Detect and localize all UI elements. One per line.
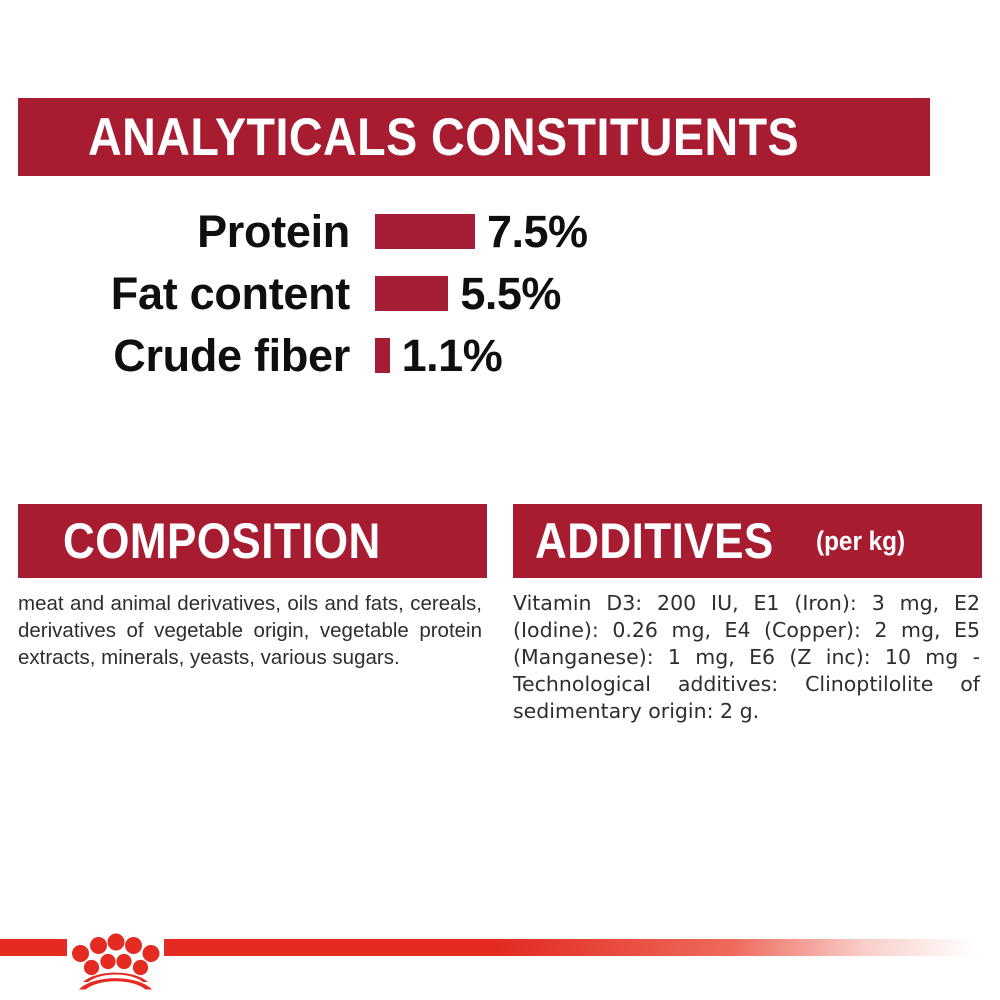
nutrient-bar-crude-fiber	[375, 338, 390, 373]
nutrient-bar-wrap: 5.5%	[375, 271, 561, 316]
nutrient-label-fat-content: Fat content	[0, 271, 350, 316]
nutrient-value-protein: 7.5%	[487, 209, 588, 254]
additives-banner-suffix: (per kg)	[816, 526, 905, 557]
footer-rule-left	[0, 939, 67, 956]
composition-body-text: meat and animal derivatives, oils and fa…	[18, 590, 482, 671]
royal-canin-crown-logo-icon	[67, 920, 164, 992]
nutrient-row: Crude fiber 1.1%	[0, 324, 1000, 386]
nutrient-value-fat-content: 5.5%	[460, 271, 561, 316]
nutrient-bar-protein	[375, 214, 475, 249]
nutrient-bar-wrap: 1.1%	[375, 333, 502, 378]
additives-banner: ADDITIVES (per kg)	[513, 504, 982, 578]
nutrient-value-crude-fiber: 1.1%	[402, 333, 503, 378]
additives-banner-title: ADDITIVES	[535, 512, 774, 570]
analyticals-constituents-banner: ANALYTICALS CONSTITUENTS	[18, 98, 930, 176]
nutrient-bar-wrap: 7.5%	[375, 209, 588, 254]
footer	[0, 920, 1000, 1000]
nutrient-row: Fat content 5.5%	[0, 262, 1000, 324]
composition-banner: COMPOSITION	[18, 504, 487, 578]
footer-rule-right	[164, 939, 1000, 956]
nutrient-bar-fat-content	[375, 276, 448, 311]
nutrient-label-protein: Protein	[0, 209, 350, 254]
additives-body-text: Vitamin D3: 200 IU, E1 (Iron): 3 mg, E2 …	[513, 590, 980, 725]
nutrient-label-crude-fiber: Crude fiber	[0, 333, 350, 378]
composition-banner-title: COMPOSITION	[63, 512, 381, 570]
analyticals-chart: Protein 7.5% Fat content 5.5% Crude fibe…	[0, 200, 1000, 386]
analyticals-banner-title: ANALYTICALS CONSTITUENTS	[88, 107, 799, 168]
nutrient-row: Protein 7.5%	[0, 200, 1000, 262]
